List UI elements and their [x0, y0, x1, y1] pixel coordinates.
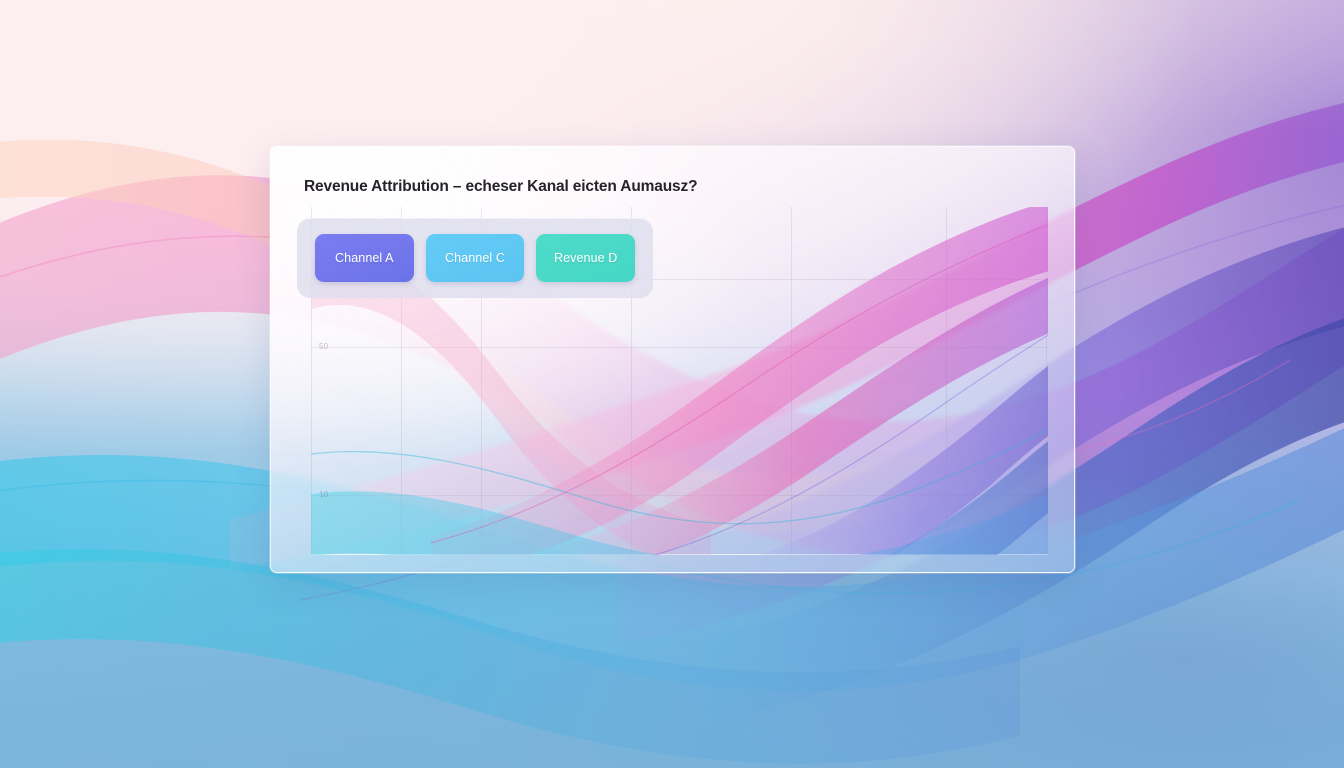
channel-chip-a[interactable]: Channel A: [315, 234, 414, 282]
y-tick-label: 10: [319, 491, 328, 499]
channel-chip-a-label: Channel A: [335, 251, 394, 265]
gridline-horizontal: [311, 347, 1048, 348]
gridline-vertical: [791, 207, 792, 555]
gridline-vertical: [1046, 207, 1047, 555]
gridline-vertical: [946, 207, 947, 555]
channel-chip-revenue-d-label: Revenue D: [554, 251, 617, 265]
channel-chip-c[interactable]: Channel C: [426, 234, 525, 282]
axis-baseline: [311, 554, 1048, 555]
screenshot-root: 70 50 10 Revenue Attribution – echeser K…: [0, 0, 1344, 768]
channel-chip-c-label: Channel C: [445, 251, 505, 265]
channel-selector: Channel A Channel C Revenue D: [297, 218, 653, 298]
analytics-card: 70 50 10 Revenue Attribution – echeser K…: [270, 146, 1075, 573]
y-tick-label: 50: [319, 343, 328, 351]
gridline-horizontal: [311, 495, 1048, 496]
channel-chip-revenue-d[interactable]: Revenue D: [536, 234, 635, 282]
page-title: Revenue Attribution – echeser Kanal eict…: [304, 178, 697, 196]
